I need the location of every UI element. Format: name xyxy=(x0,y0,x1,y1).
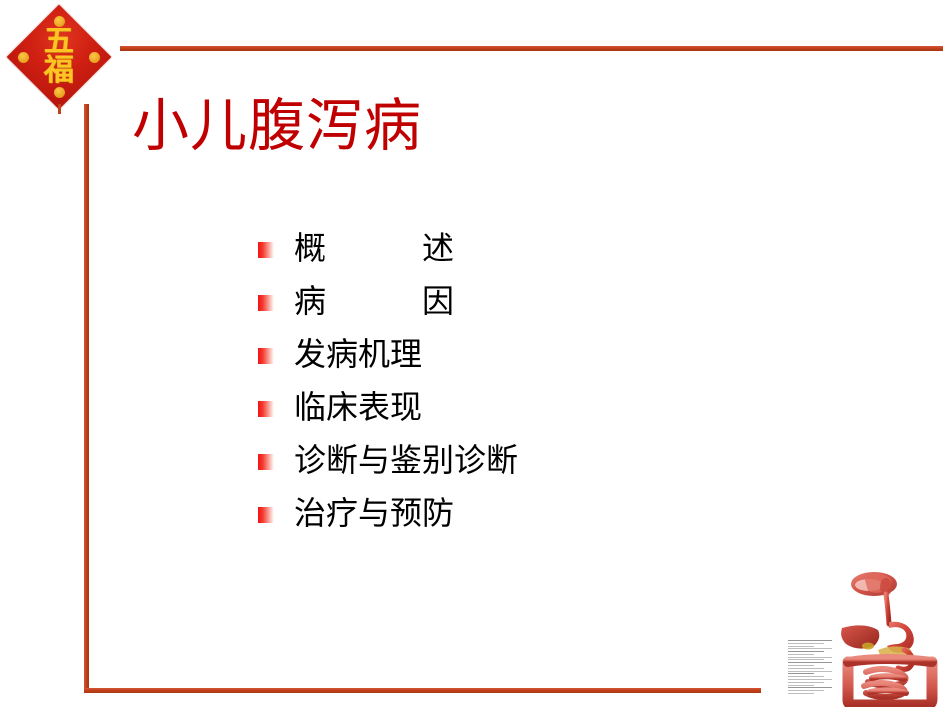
presentation-slide: 五 福 小儿腹泻病 概 述 病 因 发病机理 临床表现 诊断与鉴别诊断 xyxy=(0,0,950,713)
legend-line xyxy=(788,659,824,660)
emblem-tassel xyxy=(58,104,61,114)
page-title: 小儿腹泻病 xyxy=(132,97,422,157)
legend-line xyxy=(788,671,832,672)
small-intestine-icon xyxy=(864,669,906,697)
bullet-square-icon xyxy=(258,454,274,470)
emblem-char-bottom: 福 xyxy=(44,57,74,86)
gallbladder-icon xyxy=(862,643,874,650)
bullet-square-icon xyxy=(258,507,274,523)
list-item[interactable]: 诊断与鉴别诊断 xyxy=(258,444,778,497)
digestive-system-illustration xyxy=(788,562,948,707)
list-item[interactable]: 概 述 xyxy=(258,232,778,285)
list-item-label: 发病机理 xyxy=(294,338,422,370)
legend-line xyxy=(788,665,814,666)
legend-line xyxy=(788,668,824,669)
legend-line xyxy=(788,646,814,647)
bullet-square-icon xyxy=(258,348,274,364)
legend-line xyxy=(788,685,814,686)
legend-line xyxy=(788,676,824,677)
bullet-square-icon xyxy=(258,242,274,258)
list-item[interactable]: 病 因 xyxy=(258,285,778,338)
emblem-text: 五 福 xyxy=(6,4,112,110)
legend-line xyxy=(788,654,814,655)
list-item-label: 临床表现 xyxy=(294,391,422,423)
list-item-label: 概 述 xyxy=(294,232,454,264)
frame-line-top xyxy=(120,46,943,51)
five-blessings-emblem: 五 福 xyxy=(6,4,112,110)
illustration-legend xyxy=(788,640,834,694)
list-item-label: 诊断与鉴别诊断 xyxy=(294,444,518,476)
legend-line xyxy=(788,690,824,691)
frame-line-left xyxy=(84,104,89,693)
legend-line xyxy=(788,662,832,663)
transverse-colon-icon xyxy=(848,659,932,662)
list-item-label: 治疗与预防 xyxy=(294,497,454,529)
legend-line xyxy=(788,640,832,641)
frame-line-bottom xyxy=(84,688,761,693)
list-item[interactable]: 发病机理 xyxy=(258,338,778,391)
legend-line xyxy=(788,687,832,688)
mouth-pharynx-icon xyxy=(851,572,897,596)
esophagus-icon xyxy=(886,594,889,624)
legend-line xyxy=(788,693,814,694)
legend-line xyxy=(788,648,832,649)
legend-line xyxy=(788,682,824,683)
list-item-label: 病 因 xyxy=(294,285,454,317)
legend-line xyxy=(788,657,832,658)
legend-line xyxy=(788,651,824,652)
list-item[interactable]: 治疗与预防 xyxy=(258,497,778,550)
digestive-tract-svg xyxy=(834,562,948,707)
legend-line xyxy=(788,679,832,680)
outline-list: 概 述 病 因 发病机理 临床表现 诊断与鉴别诊断 治疗与预防 xyxy=(258,232,778,550)
bullet-square-icon xyxy=(258,401,274,417)
bullet-square-icon xyxy=(258,295,274,311)
legend-line xyxy=(788,643,824,644)
legend-line xyxy=(788,673,814,674)
list-item[interactable]: 临床表现 xyxy=(258,391,778,444)
